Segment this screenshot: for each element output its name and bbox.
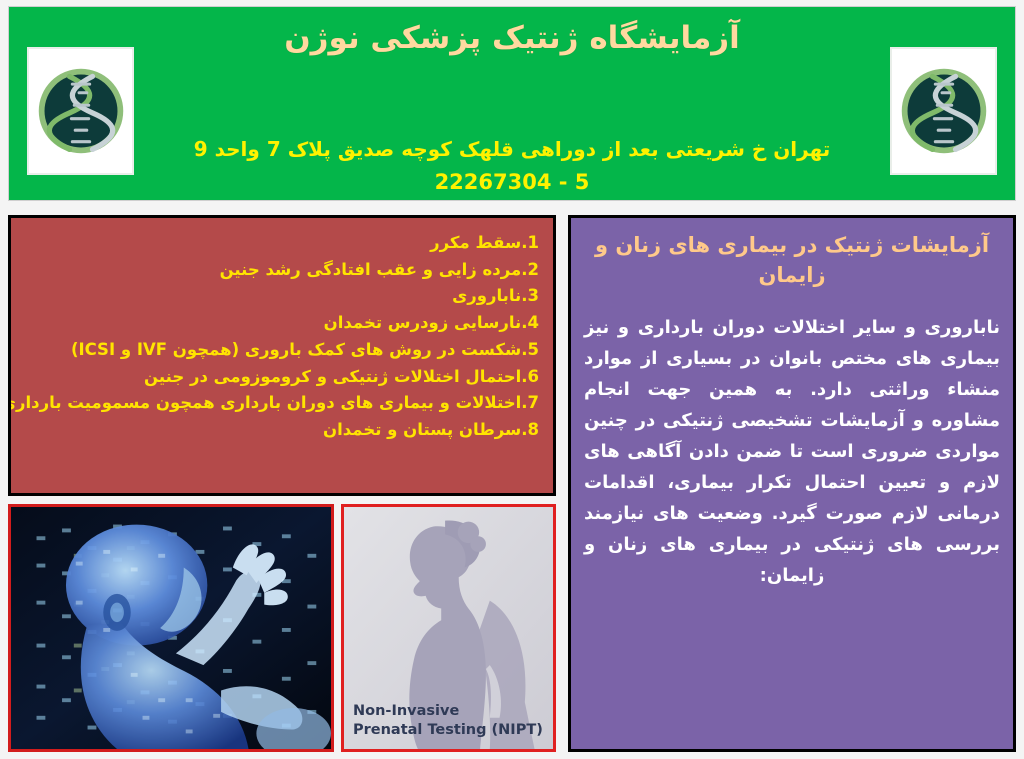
fetus-dna-illustration bbox=[11, 507, 331, 749]
list-item: 2.مرده زایی و عقب افتادگی رشد جنین bbox=[25, 257, 539, 284]
nipt-caption-line2: Prenatal Testing (NIPT) bbox=[353, 721, 543, 741]
conditions-list-panel: 1.سقط مکرر 2.مرده زایی و عقب افتادگی رشد… bbox=[8, 215, 556, 496]
list-item: 7.اختلالات و بیماری های دوران بارداری هم… bbox=[25, 390, 539, 417]
conditions-list: 1.سقط مکرر 2.مرده زایی و عقب افتادگی رشد… bbox=[25, 230, 539, 444]
nipt-caption-line1: Non-Invasive bbox=[353, 702, 543, 722]
list-item: 1.سقط مکرر bbox=[25, 230, 539, 257]
list-item: 4.نارسایی زودرس تخمدان bbox=[25, 310, 539, 337]
pregnant-woman-silhouette-photo: Non-Invasive Prenatal Testing (NIPT) bbox=[341, 504, 556, 752]
dna-helix-logo-right bbox=[890, 47, 997, 175]
description-heading: آزمایشات ژنتیک در بیماری های زنان و زایم… bbox=[584, 230, 1000, 291]
lab-phone: 22267304 - 5 bbox=[139, 170, 885, 194]
nipt-caption: Non-Invasive Prenatal Testing (NIPT) bbox=[353, 702, 543, 741]
dna-helix-logo-left bbox=[27, 47, 134, 175]
list-item: 3.ناباروری bbox=[25, 283, 539, 310]
dna-helix-icon bbox=[896, 53, 992, 169]
list-item: 8.سرطان پستان و تخمدان bbox=[25, 417, 539, 444]
list-item: 5.شکست در روش های کمک باروری (همچون IVF … bbox=[25, 337, 539, 364]
fetus-dna-photo bbox=[8, 504, 334, 752]
dna-helix-icon bbox=[33, 53, 129, 169]
lab-title: آزمایشگاه ژنتیک پزشکی نوژن bbox=[159, 19, 865, 58]
description-panel: آزمایشات ژنتیک در بیماری های زنان و زایم… bbox=[568, 215, 1016, 752]
poster-page: آزمایشگاه ژنتیک پزشکی نوژن تهران خ شریعت… bbox=[0, 0, 1024, 759]
lab-address: تهران خ شریعتی بعد از دوراهی قلهک کوچه ص… bbox=[139, 135, 885, 164]
description-body: ناباروری و سایر اختلالات دوران بارداری و… bbox=[584, 313, 1000, 592]
poster-header: آزمایشگاه ژنتیک پزشکی نوژن تهران خ شریعت… bbox=[8, 6, 1016, 201]
list-item: 6.احتمال اختلالات ژنتیکی و کروموزومی در … bbox=[25, 364, 539, 391]
